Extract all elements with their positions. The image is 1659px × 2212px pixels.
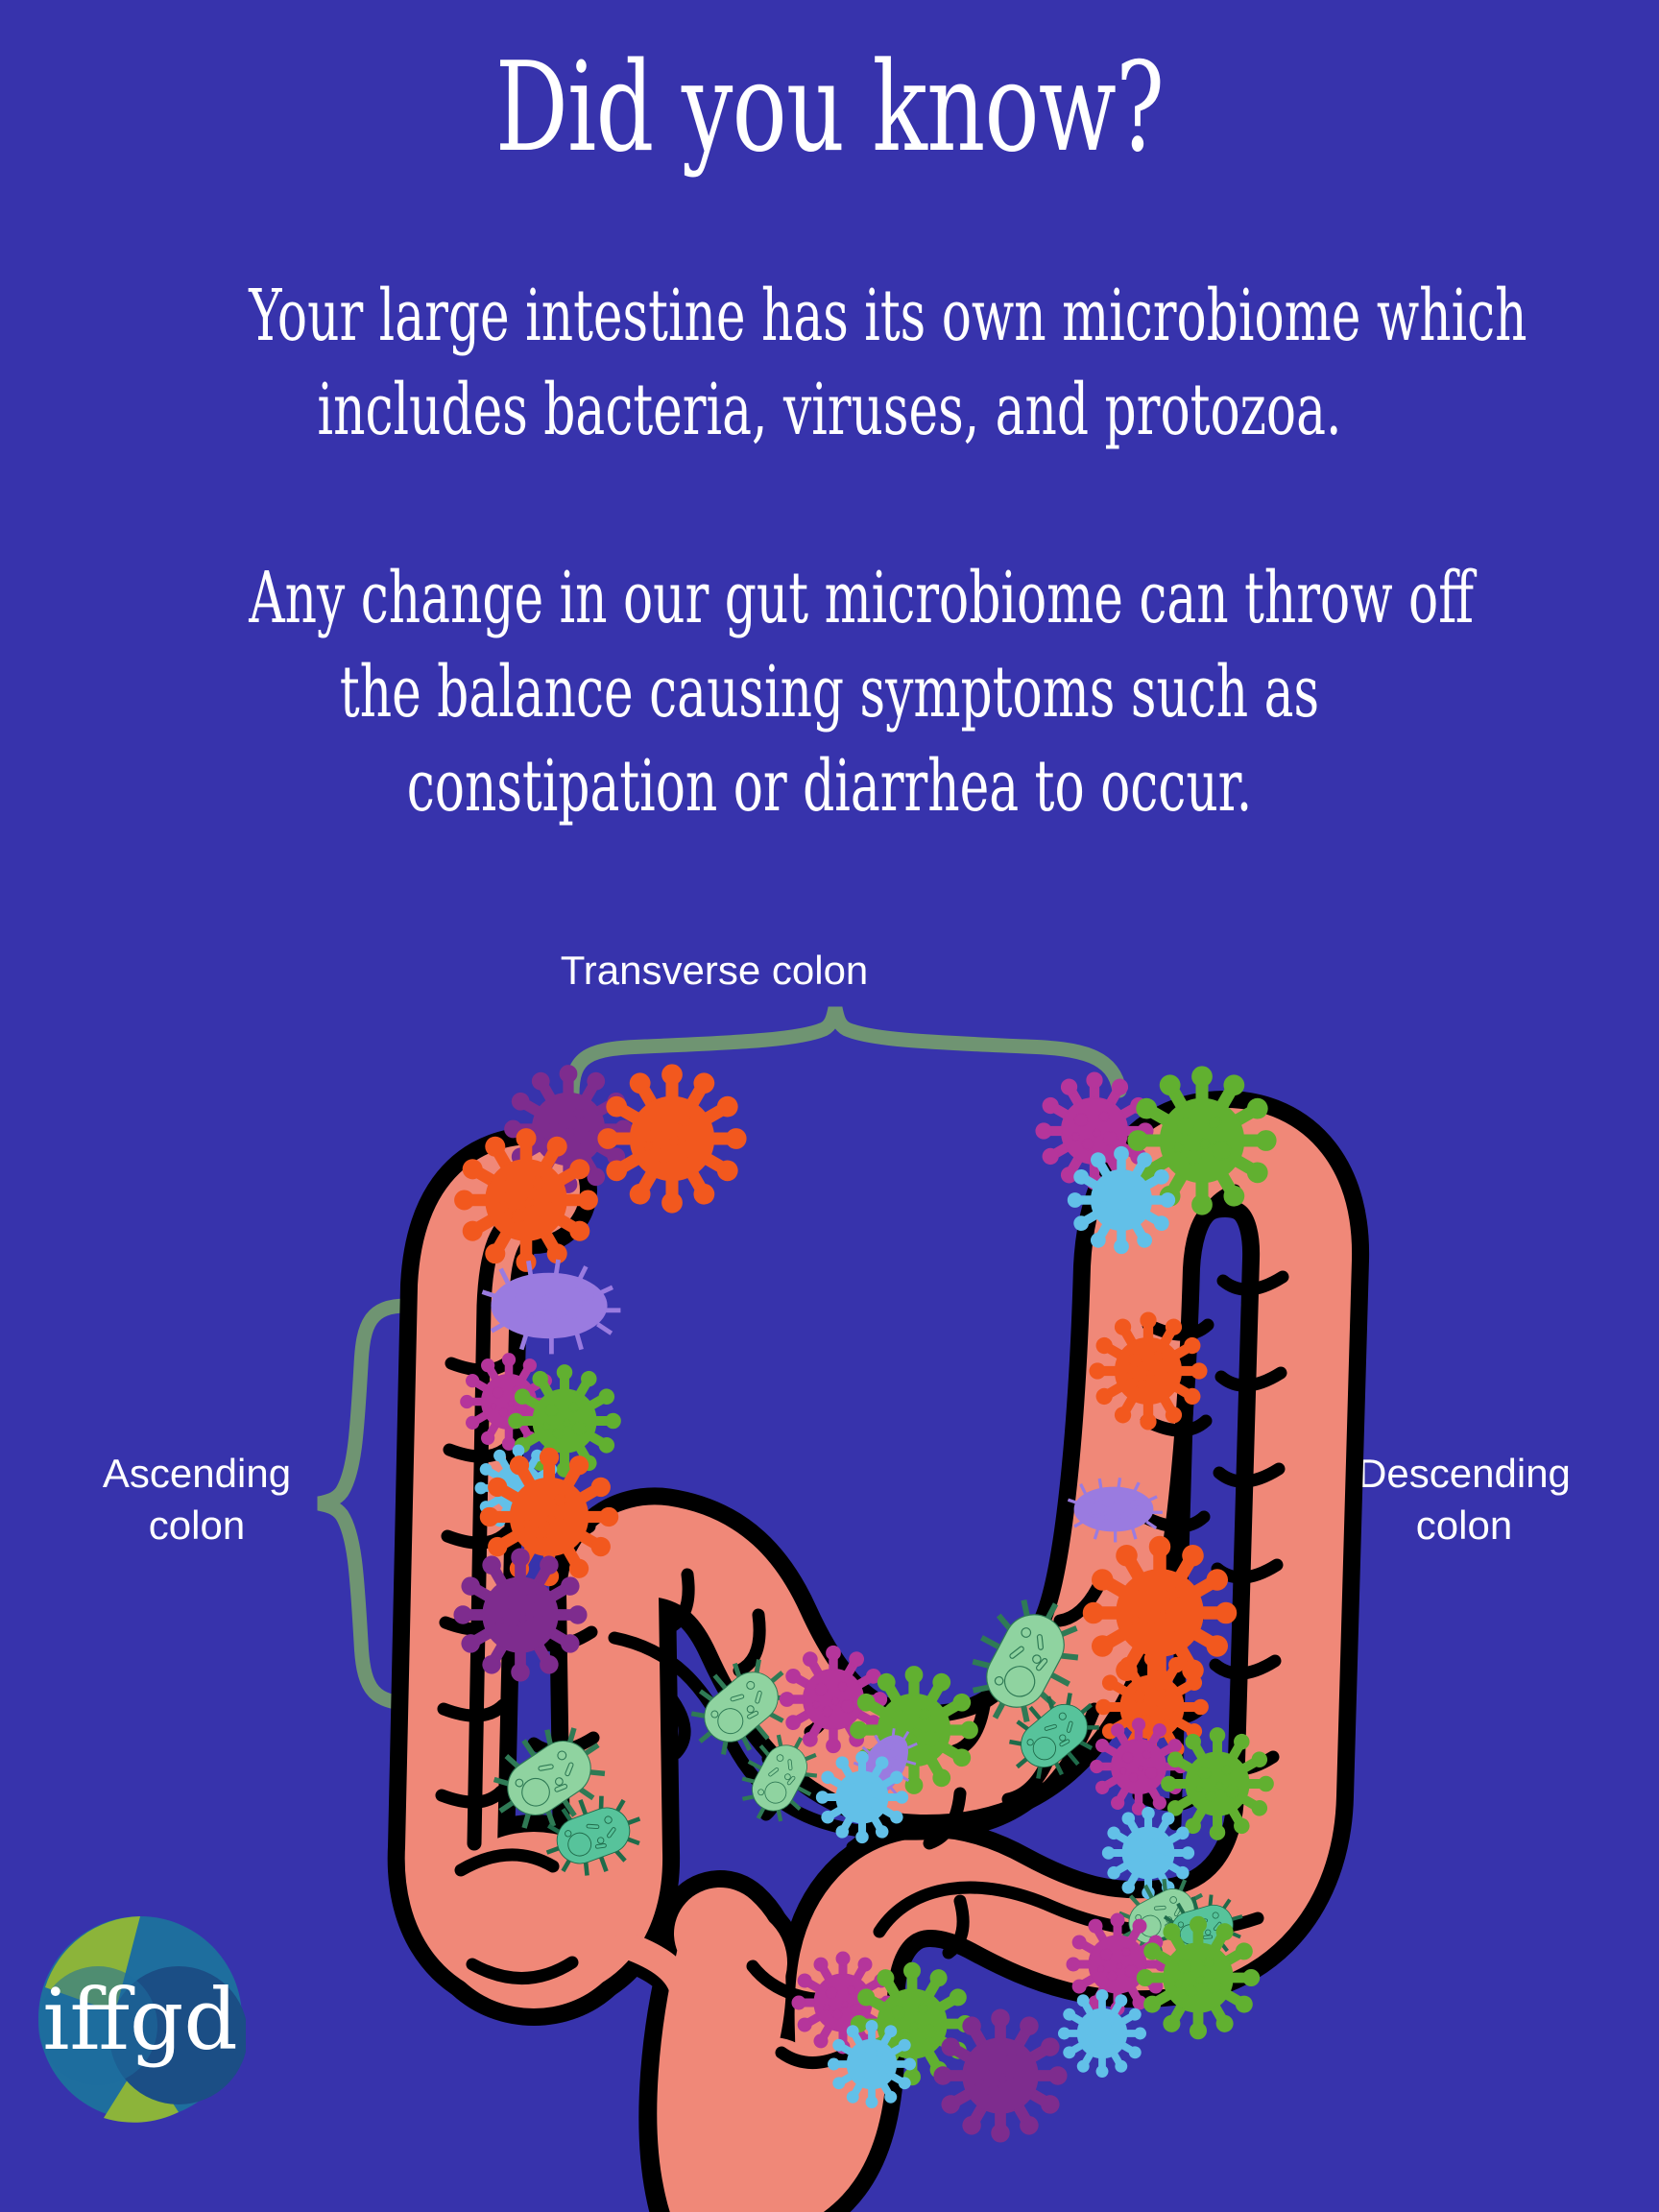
- brace-transverse-colon: [572, 1008, 1119, 1094]
- large-intestine-illustration: [0, 902, 1659, 2212]
- page-title: Did you know?: [216, 44, 1444, 173]
- microbe-virus-orange: [598, 1065, 746, 1213]
- paragraph-1-line-1: Your large intestine has its own microbi…: [249, 269, 1410, 363]
- paragraph-1-line-2: includes bacteria, viruses, and protozoa…: [249, 363, 1410, 457]
- paragraph-2-line-3: constipation or diarrhea to occur.: [249, 739, 1410, 833]
- paragraph-2-line-1: Any change in our gut microbiome can thr…: [249, 551, 1410, 645]
- body-copy: Your large intestine has its own microbi…: [249, 269, 1410, 833]
- paragraph-2-line-2: the balance causing symptoms such as: [249, 645, 1410, 739]
- iffgd-logo[interactable]: iffgd: [35, 1912, 246, 2124]
- microbe-virus-purple: [934, 2009, 1067, 2142]
- paragraph-spacer: [249, 457, 1410, 551]
- poster-canvas: Did you know? Your large intestine has i…: [0, 0, 1659, 2212]
- logo-wordmark: iffgd: [42, 1970, 237, 2069]
